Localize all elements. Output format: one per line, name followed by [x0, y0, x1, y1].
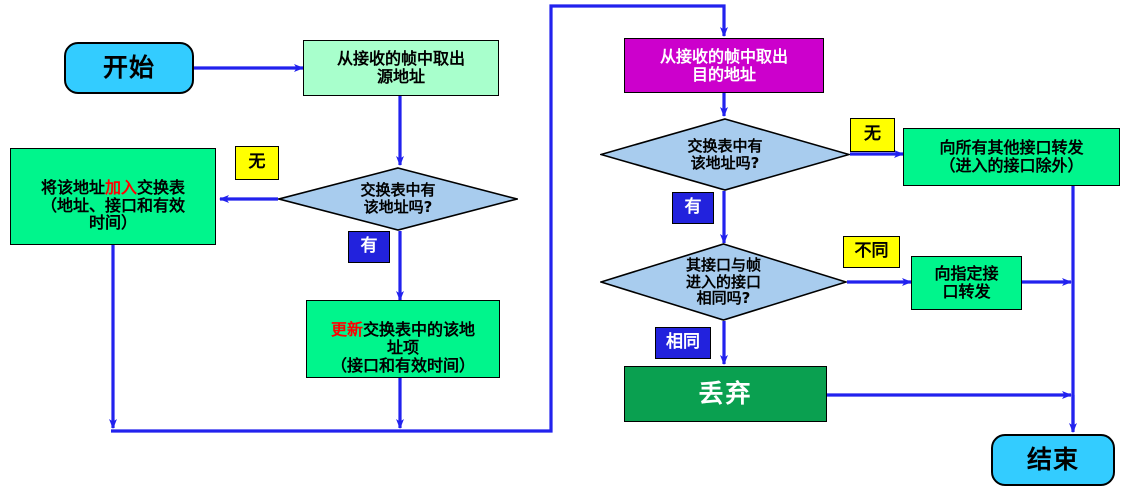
node-decision-same-port[interactable]: 其接口与帧 进入的接口 相同吗?	[600, 243, 847, 321]
edge-label-source-yes-text: 有	[361, 237, 378, 256]
node-add-address-line1: 将该地址加入交换表	[41, 161, 185, 197]
node-flood-all-other-ports[interactable]: 向所有其他接口转发 （进入的接口除外）	[903, 128, 1120, 186]
edge-label-port-same: 相同	[655, 327, 711, 359]
node-decision-source-in-table-label: 交换表中有 该地址吗?	[312, 182, 485, 216]
node-extract-destination-address[interactable]: 从接收的帧中取出 目的地址	[624, 38, 824, 93]
node-update-address-line1-post: 交换表中的该地	[363, 320, 475, 339]
edge-label-dest-yes: 有	[672, 192, 714, 224]
node-update-address-entry[interactable]: 更新交换表中的该地 址项 （接口和有效时间）	[306, 300, 500, 378]
node-add-address-line1-highlight: 加入	[105, 178, 137, 197]
node-extract-destination-address-label: 从接收的帧中取出 目的地址	[660, 48, 788, 84]
node-forward-to-designated-port-label: 向指定接 口转发	[934, 265, 998, 301]
edge-label-dest-no: 无	[850, 118, 895, 152]
node-discard[interactable]: 丢弃	[624, 366, 827, 422]
node-decision-destination-in-table[interactable]: 交换表中有 该地址吗?	[600, 118, 850, 191]
node-extract-source-address-label: 从接收的帧中取出 源地址	[337, 50, 465, 86]
node-add-address-to-table[interactable]: 将该地址加入交换表 （地址、接口和有效 时间）	[10, 148, 216, 245]
flowchart-canvas: 开始 从接收的帧中取出 源地址 交换表中有 该地址吗? 无 有 将该地址加入交换…	[0, 0, 1127, 500]
node-add-address-line1-pre: 将该地址	[41, 178, 105, 197]
node-end-label: 结束	[1027, 446, 1079, 474]
edge-label-source-no-text: 无	[249, 153, 266, 172]
node-update-address-line1: 更新交换表中的该地	[331, 303, 475, 339]
node-forward-to-designated-port[interactable]: 向指定接 口转发	[911, 256, 1022, 310]
edge-label-port-different: 不同	[843, 236, 900, 268]
node-update-address-line1-highlight: 更新	[331, 320, 363, 339]
node-add-address-line1-post: 交换表	[137, 178, 185, 197]
node-add-address-line3: 时间）	[89, 214, 137, 232]
node-update-address-line2: 址项	[387, 339, 419, 357]
node-start[interactable]: 开始	[64, 42, 194, 94]
node-update-address-line3: （接口和有效时间）	[331, 357, 475, 375]
edge-label-source-no: 无	[235, 146, 279, 180]
edge-label-port-same-text: 相同	[666, 333, 700, 352]
edge-label-port-different-text: 不同	[855, 242, 889, 261]
node-add-address-line2: （地址、接口和有效	[41, 197, 185, 215]
node-extract-source-address[interactable]: 从接收的帧中取出 源地址	[303, 40, 499, 96]
edge-label-dest-no-text: 无	[864, 125, 881, 144]
node-decision-same-port-label: 其接口与帧 进入的接口 相同吗?	[635, 257, 813, 307]
node-discard-label: 丢弃	[698, 380, 752, 408]
edge-label-dest-yes-text: 有	[685, 198, 702, 217]
node-end[interactable]: 结束	[991, 434, 1115, 486]
node-decision-source-in-table[interactable]: 交换表中有 该地址吗?	[278, 167, 518, 231]
node-start-label: 开始	[103, 54, 155, 82]
node-flood-all-other-ports-label: 向所有其他接口转发 （进入的接口除外）	[939, 139, 1083, 175]
edge-label-source-yes: 有	[348, 231, 390, 263]
node-decision-destination-in-table-label: 交换表中有 该地址吗?	[635, 138, 815, 172]
